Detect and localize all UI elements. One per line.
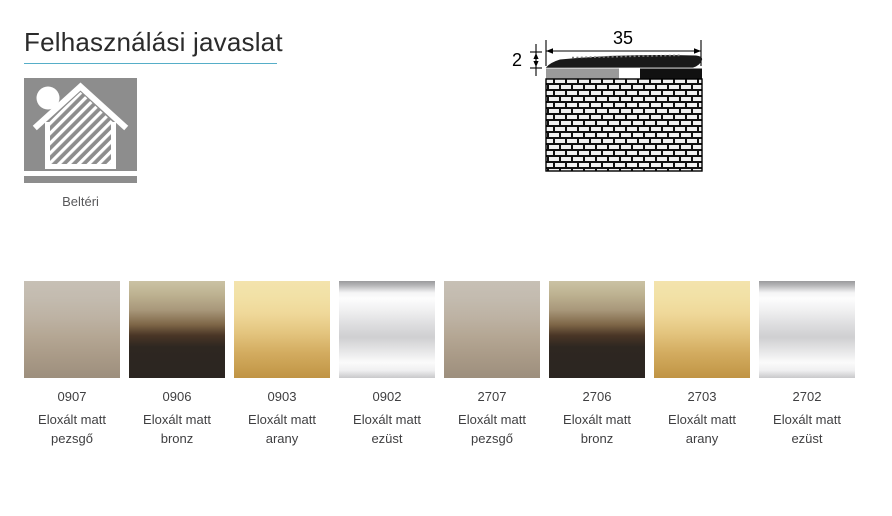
swatch-code: 2707 [444, 388, 540, 407]
swatch-color-chip[interactable] [339, 281, 435, 378]
usage-icon-group: Beltéri [24, 78, 137, 209]
swatch-name: Eloxált matt arany [234, 410, 330, 449]
swatch-item[interactable]: 0906 Eloxált matt bronz [129, 281, 225, 449]
profile-cross-section-drawing: 35 2 [500, 24, 732, 176]
swatch-color-chip[interactable] [24, 281, 120, 378]
height-dimension-label: 2 [512, 50, 522, 70]
swatch-code: 0902 [339, 388, 435, 407]
swatch-name: Eloxált matt pezsgő [444, 410, 540, 449]
swatch-item[interactable]: 0902 Eloxált matt ezüst [339, 281, 435, 449]
swatch-color-chip[interactable] [759, 281, 855, 378]
swatch-code: 0907 [24, 388, 120, 407]
swatch-name-line1: Eloxált matt [654, 410, 750, 430]
ground-bar [24, 176, 137, 183]
swatch-name-line2: bronz [549, 429, 645, 449]
swatch-name-line1: Eloxált matt [129, 410, 225, 430]
swatch-item[interactable]: 2706 Eloxált matt bronz [549, 281, 645, 449]
swatch-code: 2703 [654, 388, 750, 407]
swatch-name-line1: Eloxált matt [549, 410, 645, 430]
swatch-name-line2: arany [234, 429, 330, 449]
swatch-name-line2: arany [654, 429, 750, 449]
swatch-code: 2706 [549, 388, 645, 407]
swatch-code: 0906 [129, 388, 225, 407]
swatch-name-line1: Eloxált matt [759, 410, 855, 430]
swatch-code: 0903 [234, 388, 330, 407]
page-title: Felhasználási javaslat [24, 28, 324, 57]
swatch-item[interactable]: 2703 Eloxált matt arany [654, 281, 750, 449]
swatch-name-line1: Eloxált matt [24, 410, 120, 430]
usage-caption: Beltéri [24, 194, 137, 209]
finish-swatch-row: 0907 Eloxált matt pezsgő 0906 Eloxált ma… [24, 281, 855, 449]
swatch-name-line1: Eloxált matt [234, 410, 330, 430]
swatch-item[interactable]: 0903 Eloxált matt arany [234, 281, 330, 449]
swatch-color-chip[interactable] [549, 281, 645, 378]
swatch-item[interactable]: 0907 Eloxált matt pezsgő [24, 281, 120, 449]
swatch-item[interactable]: 2707 Eloxált matt pezsgő [444, 281, 540, 449]
swatch-color-chip[interactable] [234, 281, 330, 378]
swatch-name-line1: Eloxált matt [339, 410, 435, 430]
indoor-house-icon [24, 78, 137, 171]
swatch-name-line2: pezsgő [444, 429, 540, 449]
swatch-name: Eloxált matt bronz [549, 410, 645, 449]
swatch-code: 2702 [759, 388, 855, 407]
swatch-name: Eloxált matt ezüst [759, 410, 855, 449]
swatch-name: Eloxált matt arany [654, 410, 750, 449]
swatch-color-chip[interactable] [129, 281, 225, 378]
usage-suggestion-section: Felhasználási javaslat [24, 28, 324, 209]
swatch-item[interactable]: 2702 Eloxált matt ezüst [759, 281, 855, 449]
width-dimension-label: 35 [613, 28, 633, 48]
swatch-name-line2: bronz [129, 429, 225, 449]
title-underline-rule [24, 63, 277, 64]
swatch-color-chip[interactable] [444, 281, 540, 378]
swatch-color-chip[interactable] [654, 281, 750, 378]
swatch-name-line2: ezüst [339, 429, 435, 449]
swatch-name: Eloxált matt bronz [129, 410, 225, 449]
swatch-name: Eloxált matt ezüst [339, 410, 435, 449]
swatch-name-line1: Eloxált matt [444, 410, 540, 430]
swatch-name-line2: ezüst [759, 429, 855, 449]
swatch-name: Eloxált matt pezsgő [24, 410, 120, 449]
swatch-name-line2: pezsgő [24, 429, 120, 449]
